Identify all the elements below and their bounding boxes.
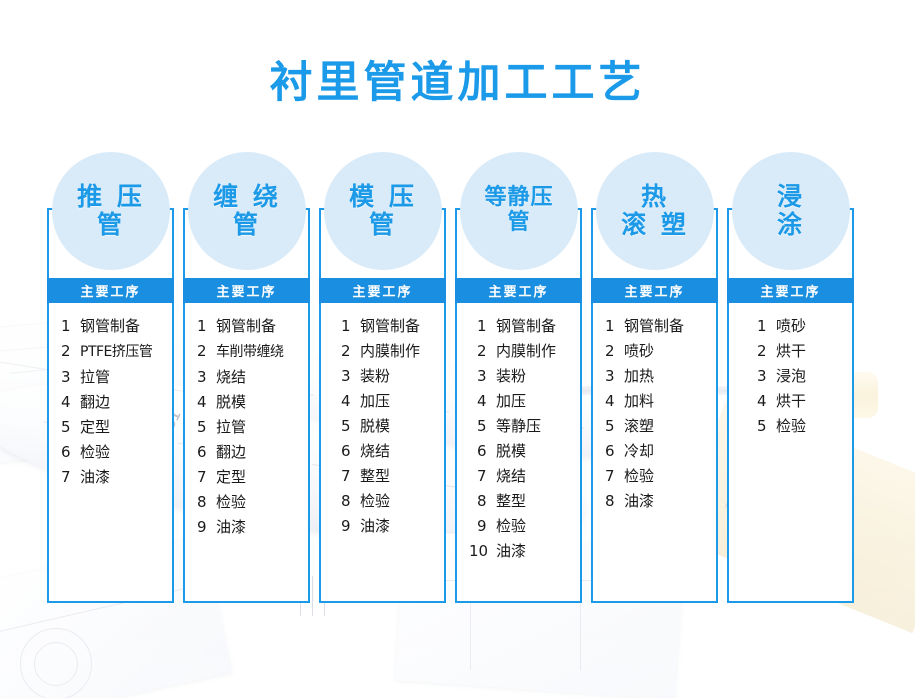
step-item: 7油漆 (61, 465, 168, 490)
process-column-regunsu: 热 滚 塑 主要工序 1钢管制备 2喷砂 3加热 4加料 5滚塑 6冷却 7检验… (591, 152, 720, 607)
section-header-label: 主要工序 (80, 281, 140, 300)
step-item: 5滚塑 (605, 414, 712, 439)
process-circle-badge: 热 滚 塑 (596, 152, 714, 270)
step-label: 整型 (360, 464, 390, 489)
process-column-moya: 模 压 管 主要工序 1钢管制备 2内膜制作 3装粉 4加压 5脱模 6烧结 7… (319, 152, 448, 607)
step-label: 滚塑 (624, 414, 654, 439)
step-label: 冷却 (624, 439, 654, 464)
step-number: 8 (197, 490, 211, 515)
process-name-label: 模 压 管 (349, 183, 417, 239)
step-item: 3装粉 (477, 364, 576, 389)
step-label: 喷砂 (776, 314, 806, 339)
step-number: 3 (341, 364, 355, 389)
step-number: 8 (605, 489, 619, 514)
step-item: 10油漆 (469, 539, 576, 564)
step-list: 1钢管制备 2PTFE挤压管 3拉管 4翻边 5定型 6检验 7油漆 (47, 314, 174, 490)
process-column-chanrao: 缠 绕 管 主要工序 1钢管制备 2车削带缠绕 3烧结 4脱模 5拉管 6翻边 … (183, 152, 312, 607)
step-number: 6 (605, 439, 619, 464)
step-label: PTFE挤压管 (80, 340, 152, 365)
step-number: 4 (757, 389, 771, 414)
step-number: 4 (61, 390, 75, 415)
step-number: 3 (757, 364, 771, 389)
step-item: 6检验 (61, 440, 168, 465)
infographic-page: 衬里管道加工工艺 推 压 管 主要工序 1钢管制备 2PTFE挤压管 3拉管 4… (0, 0, 915, 698)
step-number: 8 (341, 489, 355, 514)
step-label: 拉管 (216, 415, 246, 440)
step-label: 整型 (496, 489, 526, 514)
step-number: 1 (757, 314, 771, 339)
step-label: 烧结 (216, 365, 246, 390)
step-label: 装粉 (496, 364, 526, 389)
step-number: 6 (341, 439, 355, 464)
step-number: 5 (341, 414, 355, 439)
step-label: 烘干 (776, 339, 806, 364)
step-label: 检验 (776, 414, 806, 439)
step-item: 1钢管制备 (197, 314, 304, 339)
step-item: 4加压 (341, 389, 440, 414)
step-label: 油漆 (216, 515, 246, 540)
step-item: 2内膜制作 (477, 339, 576, 364)
step-label: 内膜制作 (496, 339, 556, 364)
step-number: 3 (61, 365, 75, 390)
step-item: 6脱模 (477, 439, 576, 464)
step-label: 拉管 (80, 365, 110, 390)
step-item: 2PTFE挤压管 (61, 339, 168, 365)
step-list: 1钢管制备 2车削带缠绕 3烧结 4脱模 5拉管 6翻边 7定型 8检验 9油漆 (183, 314, 310, 540)
step-label: 脱模 (360, 414, 390, 439)
step-label: 脱模 (216, 390, 246, 415)
step-label: 浸泡 (776, 364, 806, 389)
process-circle-badge: 模 压 管 (324, 152, 442, 270)
step-label: 等静压 (496, 414, 541, 439)
step-item: 5等静压 (477, 414, 576, 439)
step-list: 1钢管制备 2内膜制作 3装粉 4加压 5脱模 6烧结 7整型 8检验 9油漆 (319, 314, 446, 539)
section-header-bar: 主要工序 (47, 278, 174, 303)
step-item: 9油漆 (341, 514, 440, 539)
step-item: 6翻边 (197, 440, 304, 465)
step-label: 加热 (624, 364, 654, 389)
step-label: 检验 (624, 464, 654, 489)
process-circle-badge: 推 压 管 (52, 152, 170, 270)
step-label: 烧结 (496, 464, 526, 489)
step-number: 7 (197, 465, 211, 490)
step-number: 4 (477, 389, 491, 414)
step-number: 4 (197, 390, 211, 415)
step-number: 9 (341, 514, 355, 539)
step-item: 8检验 (197, 490, 304, 515)
step-item: 3浸泡 (757, 364, 848, 389)
process-circle-badge: 浸 涂 (732, 152, 850, 270)
process-name-label: 缠 绕 管 (213, 183, 281, 239)
section-header-bar: 主要工序 (591, 278, 718, 303)
step-item: 7定型 (197, 465, 304, 490)
step-number: 6 (197, 440, 211, 465)
section-header-label: 主要工序 (624, 281, 684, 300)
section-header-bar: 主要工序 (319, 278, 446, 303)
step-item: 5拉管 (197, 415, 304, 440)
section-header-label: 主要工序 (488, 281, 548, 300)
section-header-bar: 主要工序 (727, 278, 854, 303)
step-label: 装粉 (360, 364, 390, 389)
step-item: 4加料 (605, 389, 712, 414)
step-item: 1钢管制备 (341, 314, 440, 339)
step-label: 内膜制作 (360, 339, 420, 364)
step-item: 6烧结 (341, 439, 440, 464)
step-number: 2 (605, 339, 619, 364)
step-list: 1钢管制备 2喷砂 3加热 4加料 5滚塑 6冷却 7检验 8油漆 (591, 314, 718, 514)
step-item: 2车削带缠绕 (197, 339, 304, 365)
step-number: 8 (477, 489, 491, 514)
step-number: 7 (341, 464, 355, 489)
step-number: 1 (61, 314, 75, 339)
step-item: 7检验 (605, 464, 712, 489)
step-label: 烧结 (360, 439, 390, 464)
step-label: 加压 (496, 389, 526, 414)
step-number: 6 (477, 439, 491, 464)
step-item: 5检验 (757, 414, 848, 439)
step-label: 钢管制备 (216, 314, 276, 339)
step-label: 钢管制备 (80, 314, 140, 339)
step-label: 油漆 (624, 489, 654, 514)
step-number: 1 (477, 314, 491, 339)
step-item: 9检验 (477, 514, 576, 539)
step-number: 5 (197, 415, 211, 440)
process-name-label: 推 压 管 (77, 183, 145, 239)
step-label: 钢管制备 (624, 314, 684, 339)
step-number: 1 (341, 314, 355, 339)
process-name-label: 等静压 管 (484, 186, 553, 235)
page-title: 衬里管道加工工艺 (0, 48, 915, 110)
step-item: 4翻边 (61, 390, 168, 415)
section-header-label: 主要工序 (216, 281, 276, 300)
step-item: 2烘干 (757, 339, 848, 364)
step-item: 5脱模 (341, 414, 440, 439)
step-item: 5定型 (61, 415, 168, 440)
step-number: 9 (197, 515, 211, 540)
step-item: 4烘干 (757, 389, 848, 414)
step-number: 10 (469, 539, 491, 564)
step-item: 6冷却 (605, 439, 712, 464)
step-number: 3 (197, 365, 211, 390)
step-number: 5 (477, 414, 491, 439)
step-label: 油漆 (360, 514, 390, 539)
step-label: 翻边 (216, 440, 246, 465)
section-header-bar: 主要工序 (183, 278, 310, 303)
step-number: 3 (605, 364, 619, 389)
step-item: 3烧结 (197, 365, 304, 390)
step-label: 翻边 (80, 390, 110, 415)
step-list: 1喷砂 2烘干 3浸泡 4烘干 5检验 (727, 314, 854, 439)
section-header-label: 主要工序 (352, 281, 412, 300)
step-number: 7 (477, 464, 491, 489)
step-item: 3加热 (605, 364, 712, 389)
step-number: 7 (61, 465, 75, 490)
step-number: 4 (341, 389, 355, 414)
step-item: 7整型 (341, 464, 440, 489)
step-label: 定型 (80, 415, 110, 440)
step-number: 3 (477, 364, 491, 389)
step-label: 钢管制备 (496, 314, 556, 339)
process-column-tuiya: 推 压 管 主要工序 1钢管制备 2PTFE挤压管 3拉管 4翻边 5定型 6检… (47, 152, 176, 607)
step-label: 检验 (360, 489, 390, 514)
step-label: 油漆 (496, 539, 526, 564)
section-header-label: 主要工序 (760, 281, 820, 300)
step-number: 2 (341, 339, 355, 364)
step-item: 1钢管制备 (61, 314, 168, 339)
step-label: 加压 (360, 389, 390, 414)
step-number: 4 (605, 389, 619, 414)
step-label: 烘干 (776, 389, 806, 414)
step-number: 5 (61, 415, 75, 440)
step-number: 7 (605, 464, 619, 489)
step-label: 检验 (80, 440, 110, 465)
step-label: 脱模 (496, 439, 526, 464)
process-circle-badge: 缠 绕 管 (188, 152, 306, 270)
step-item: 1钢管制备 (605, 314, 712, 339)
step-item: 3拉管 (61, 365, 168, 390)
process-columns: 推 压 管 主要工序 1钢管制备 2PTFE挤压管 3拉管 4翻边 5定型 6检… (47, 152, 869, 607)
step-label: 定型 (216, 465, 246, 490)
step-item: 7烧结 (477, 464, 576, 489)
step-item: 4加压 (477, 389, 576, 414)
step-item: 2内膜制作 (341, 339, 440, 364)
step-number: 5 (605, 414, 619, 439)
step-item: 8检验 (341, 489, 440, 514)
step-label: 喷砂 (624, 339, 654, 364)
step-item: 1钢管制备 (477, 314, 576, 339)
step-number: 6 (61, 440, 75, 465)
step-item: 1喷砂 (757, 314, 848, 339)
process-name-label: 浸 涂 (777, 183, 805, 239)
step-item: 8油漆 (605, 489, 712, 514)
section-header-bar: 主要工序 (455, 278, 582, 303)
step-number: 2 (197, 339, 211, 364)
step-number: 1 (197, 314, 211, 339)
step-item: 8整型 (477, 489, 576, 514)
step-number: 2 (757, 339, 771, 364)
step-number: 2 (477, 339, 491, 364)
step-item: 2喷砂 (605, 339, 712, 364)
process-column-jintu: 浸 涂 主要工序 1喷砂 2烘干 3浸泡 4烘干 5检验 (727, 152, 856, 607)
step-label: 加料 (624, 389, 654, 414)
step-item: 9油漆 (197, 515, 304, 540)
step-list: 1钢管制备 2内膜制作 3装粉 4加压 5等静压 6脱模 7烧结 8整型 9检验… (455, 314, 582, 564)
step-label: 检验 (216, 490, 246, 515)
step-item: 3装粉 (341, 364, 440, 389)
step-item: 4脱模 (197, 390, 304, 415)
step-number: 9 (477, 514, 491, 539)
process-name-label: 热 滚 塑 (621, 183, 689, 239)
step-number: 2 (61, 339, 75, 364)
step-number: 5 (757, 414, 771, 439)
process-circle-badge: 等静压 管 (460, 152, 578, 270)
step-label: 检验 (496, 514, 526, 539)
step-label: 油漆 (80, 465, 110, 490)
step-number: 1 (605, 314, 619, 339)
process-column-dengjingya: 等静压 管 主要工序 1钢管制备 2内膜制作 3装粉 4加压 5等静压 6脱模 … (455, 152, 584, 607)
step-label: 钢管制备 (360, 314, 420, 339)
step-label: 车削带缠绕 (216, 340, 284, 365)
